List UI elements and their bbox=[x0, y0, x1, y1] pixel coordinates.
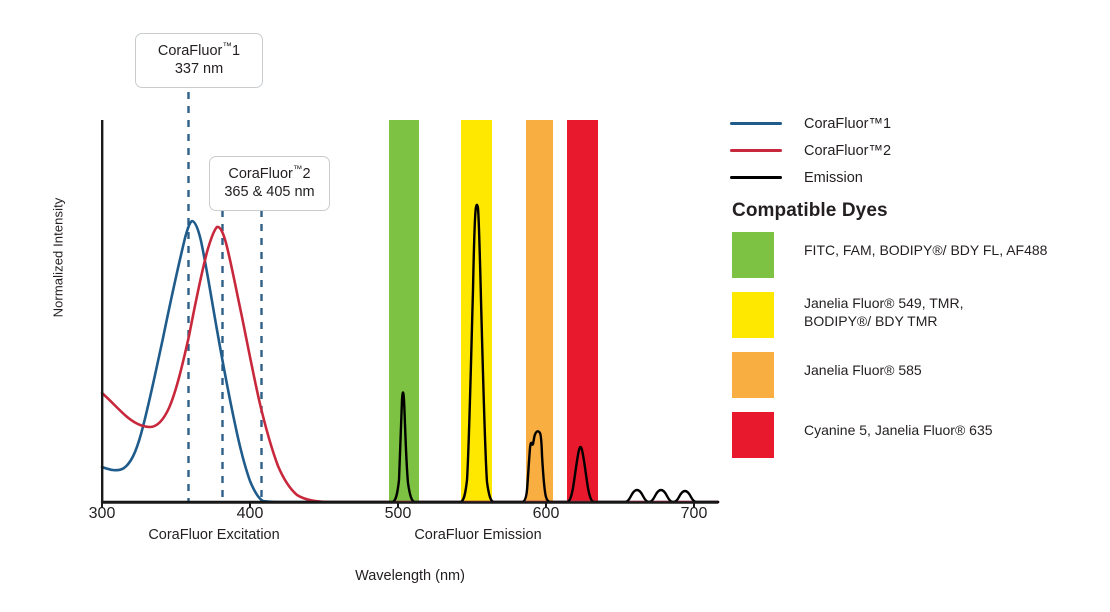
callout-1-title: CoraFluor™1 bbox=[148, 41, 250, 60]
callout-2-title: CoraFluor™2 bbox=[222, 164, 317, 183]
emission-band-red bbox=[567, 120, 598, 502]
legend-label-corafluor-2: CoraFluor™2 bbox=[804, 143, 891, 159]
callout-corafluor-1: CoraFluor™1 337 nm bbox=[135, 33, 263, 88]
callout-1-value: 337 nm bbox=[148, 60, 250, 79]
legend-swatch-line-black bbox=[730, 176, 782, 179]
callout-corafluor-2: CoraFluor™2 365 & 405 nm bbox=[209, 156, 330, 211]
trademark-icon: ™ bbox=[293, 164, 303, 175]
emission-band-green bbox=[389, 120, 419, 502]
legend-swatch-line-red bbox=[730, 149, 782, 152]
legend-item-corafluor-2: CoraFluor™2 bbox=[730, 137, 1090, 164]
x-tick-300: 300 bbox=[72, 505, 132, 523]
dye-row: Cyanine 5, Janelia Fluor® 635 bbox=[732, 412, 1104, 458]
dye-swatch-orange bbox=[732, 352, 774, 398]
legend-label-corafluor-1: CoraFluor™1 bbox=[804, 116, 891, 132]
x-tick-500: 500 bbox=[368, 505, 428, 523]
callout-2-value: 365 & 405 nm bbox=[222, 183, 317, 202]
x-axis-title: Wavelength (nm) bbox=[260, 568, 560, 584]
label-corafluor-excitation: CoraFluor Excitation bbox=[104, 527, 324, 543]
dye-label-line1: FITC, FAM, BODIPY®/ BDY FL, AF488 bbox=[804, 241, 1047, 259]
dye-label: Janelia Fluor® 549, TMR, BODIPY®/ BDY TM… bbox=[804, 292, 963, 331]
legend-item-corafluor-1: CoraFluor™1 bbox=[730, 110, 1090, 137]
legend-label-emission: Emission bbox=[804, 170, 863, 186]
dye-swatch-red bbox=[732, 412, 774, 458]
figure-root: Normalized Intensity 300 400 500 600 700… bbox=[0, 0, 1110, 612]
x-tick-600: 600 bbox=[516, 505, 576, 523]
series-legend: CoraFluor™1 CoraFluor™2 Emission bbox=[730, 110, 1090, 191]
compatible-dyes-list: FITC, FAM, BODIPY®/ BDY FL, AF488 Janeli… bbox=[732, 232, 1104, 472]
emission-band-yellow bbox=[461, 120, 492, 502]
dye-row: FITC, FAM, BODIPY®/ BDY FL, AF488 bbox=[732, 232, 1104, 278]
legend-item-emission: Emission bbox=[730, 164, 1090, 191]
x-tick-700: 700 bbox=[664, 505, 724, 523]
trademark-icon: ™ bbox=[222, 41, 232, 52]
compatible-dyes-heading: Compatible Dyes bbox=[732, 200, 888, 222]
x-tick-400: 400 bbox=[220, 505, 280, 523]
dye-row: Janelia Fluor® 585 bbox=[732, 352, 1104, 398]
dye-row: Janelia Fluor® 549, TMR, BODIPY®/ BDY TM… bbox=[732, 292, 1104, 338]
legend-swatch-line-blue bbox=[730, 122, 782, 125]
dye-label-line1: Cyanine 5, Janelia Fluor® 635 bbox=[804, 421, 993, 439]
dye-label: Janelia Fluor® 585 bbox=[804, 352, 922, 379]
chart-area: Normalized Intensity 300 400 500 600 700… bbox=[0, 0, 730, 612]
side-panel: CoraFluor™1 CoraFluor™2 Emission Compati… bbox=[730, 0, 1110, 612]
dye-label-line1: Janelia Fluor® 585 bbox=[804, 361, 922, 379]
dye-swatch-green bbox=[732, 232, 774, 278]
y-axis-title: Normalized Intensity bbox=[51, 178, 66, 338]
label-corafluor-emission: CoraFluor Emission bbox=[368, 527, 588, 543]
dye-swatch-yellow bbox=[732, 292, 774, 338]
dye-label: Cyanine 5, Janelia Fluor® 635 bbox=[804, 412, 993, 439]
dye-label-line2: BODIPY®/ BDY TMR bbox=[804, 312, 963, 330]
dye-label-line1: Janelia Fluor® 549, TMR, bbox=[804, 294, 963, 312]
dye-label: FITC, FAM, BODIPY®/ BDY FL, AF488 bbox=[804, 232, 1047, 259]
